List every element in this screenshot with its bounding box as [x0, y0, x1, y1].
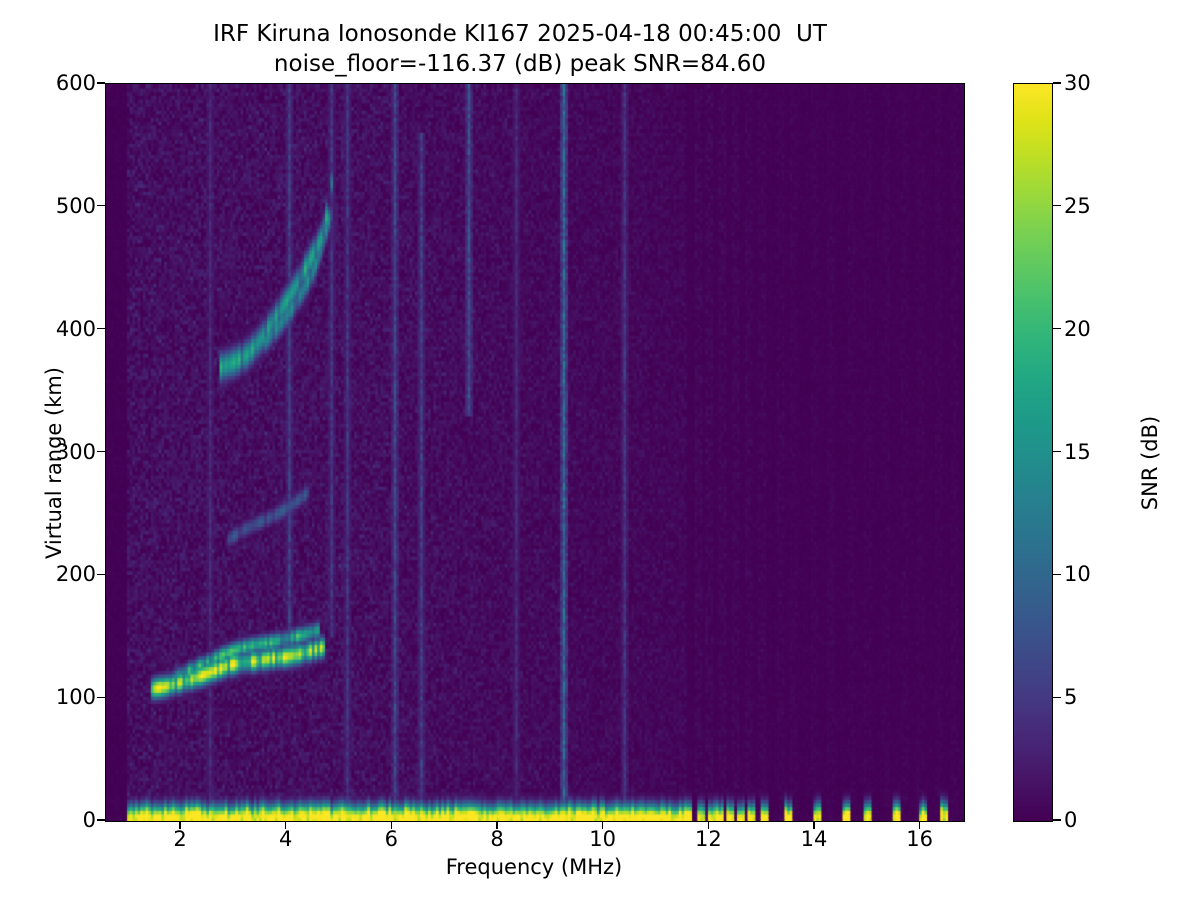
- y-tick-mark: [97, 819, 105, 820]
- ionogram-figure: IRF Kiruna Ionosonde KI167 2025-04-18 00…: [0, 0, 1200, 900]
- x-axis-label: Frequency (MHz): [105, 855, 963, 879]
- x-tick-label: 14: [801, 827, 828, 851]
- ionogram-plot-area: [105, 83, 965, 822]
- chart-title: IRF Kiruna Ionosonde KI167 2025-04-18 00…: [0, 20, 1040, 80]
- x-tick-label: 8: [490, 827, 503, 851]
- colorbar-tick-mark: [1053, 328, 1061, 329]
- y-tick-label: 300: [56, 440, 96, 464]
- colorbar-gradient: [1014, 84, 1052, 821]
- x-tick-label: 16: [906, 827, 933, 851]
- x-tick-label: 6: [385, 827, 398, 851]
- colorbar-tick-label: 30: [1064, 71, 1091, 95]
- colorbar-label: SNR (dB): [1138, 313, 1162, 613]
- y-tick-label: 200: [56, 562, 96, 586]
- colorbar-tick-label: 20: [1064, 317, 1091, 341]
- title-line-primary: IRF Kiruna Ionosonde KI167 2025-04-18 00…: [0, 20, 1040, 50]
- colorbar-tick-label: 25: [1064, 194, 1091, 218]
- y-tick-label: 0: [83, 808, 96, 832]
- y-tick-label: 100: [56, 685, 96, 709]
- y-tick-label: 400: [56, 317, 96, 341]
- x-tick-label: 2: [173, 827, 186, 851]
- colorbar-tick-label: 0: [1064, 808, 1077, 832]
- colorbar-tick-label: 15: [1064, 440, 1091, 464]
- colorbar-tick-mark: [1053, 451, 1061, 452]
- colorbar-tick-label: 10: [1064, 562, 1091, 586]
- y-tick-mark: [97, 451, 105, 452]
- y-tick-mark: [97, 574, 105, 575]
- x-tick-label: 12: [695, 827, 722, 851]
- x-tick-label: 4: [279, 827, 292, 851]
- y-tick-mark: [97, 697, 105, 698]
- colorbar-tick-mark: [1053, 697, 1061, 698]
- colorbar-tick-mark: [1053, 574, 1061, 575]
- colorbar-tick-label: 5: [1064, 685, 1077, 709]
- colorbar-tick-mark: [1053, 205, 1061, 206]
- colorbar-tick-mark: [1053, 82, 1061, 83]
- title-line-secondary: noise_floor=-116.37 (dB) peak SNR=84.60: [0, 50, 1040, 80]
- y-tick-mark: [97, 82, 105, 83]
- y-tick-label: 600: [56, 71, 96, 95]
- y-tick-mark: [97, 205, 105, 206]
- x-tick-label: 10: [589, 827, 616, 851]
- y-tick-mark: [97, 328, 105, 329]
- colorbar-tick-mark: [1053, 819, 1061, 820]
- y-tick-label: 500: [56, 194, 96, 218]
- ionogram-heatmap: [106, 84, 964, 821]
- colorbar: [1013, 83, 1053, 822]
